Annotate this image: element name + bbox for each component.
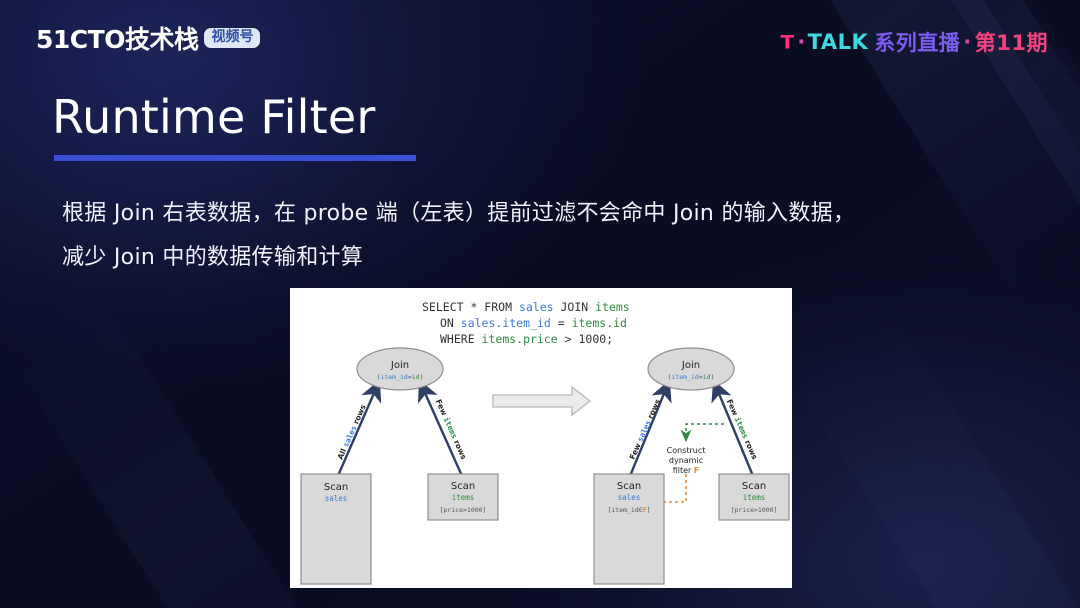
right-plan-scan-items-predicate: [price>1000] [731,506,778,514]
left-plan-edge-sales-label: All sales rows [336,403,368,461]
sql-line-2: ON sales.item_id = items.id [440,316,627,330]
talk-name: TALK [808,30,869,54]
talk-series-logo: T · TALK 系列直播 · 第11期 [781,27,1048,57]
right-plan-scan-items-title: Scan [742,481,766,492]
brand-badge: 视频号 [204,28,260,48]
sql-line-3: WHERE items.price > 1000; [440,332,613,346]
body-line-2: 减少 Join 中的数据传输和计算 [62,236,1032,280]
body-line-1: 根据 Join 右表数据，在 probe 端（左表）提前过滤不会命中 Join … [62,192,1032,236]
right-plan-join-condition: (item_id=id) [668,373,715,381]
brand-logo: 51CTO技术栈 视频号 [36,20,260,56]
dynamic-filter-note-line-3: filter F [673,466,700,475]
right-plan-scan-sales-title: Scan [617,481,641,492]
left-plan-scan-items-predicate: [price>1000] [440,506,487,514]
title-underline [54,155,416,161]
talk-episode-label: 第11期 [975,27,1048,57]
left-plan-scan-sales-title: Scan [324,482,348,493]
left-plan-join-label: Join [390,360,409,371]
diagram-canvas: SELECT * FROM sales JOIN items ON sales.… [290,288,792,588]
body-copy: 根据 Join 右表数据，在 probe 端（左表）提前过滤不会命中 Join … [62,192,1032,280]
talk-dot: · [797,30,805,54]
talk-series-label: 系列直播 [874,27,960,57]
left-plan-scan-sales-table: sales [325,494,348,503]
right-plan-scan-sales-predicate: [item_id∈F] [607,506,650,514]
sql-line-1: SELECT * FROM sales JOIN items [422,300,630,314]
right-plan-join-label: Join [681,360,700,371]
right-plan: Few sales rows Few items rows Join (item… [594,348,789,584]
dynamic-filter-note: Construct dynamic filter F [667,446,706,475]
dynamic-filter-note-line-1: Construct [667,446,706,455]
transform-arrow [493,387,590,415]
runtime-filter-diagram: SELECT * FROM sales JOIN items ON sales.… [290,288,792,588]
left-plan-scan-items-title: Scan [451,481,475,492]
left-plan-scan-items-table: items [452,493,475,502]
page-title: Runtime Filter [52,90,375,144]
dynamic-filter-note-line-2: dynamic [669,456,703,465]
sql-snippet: SELECT * FROM sales JOIN items ON sales.… [422,300,630,346]
right-plan-scan-items-table: items [743,493,766,502]
right-plan-edge-sales-label: Few sales rows [628,397,663,460]
left-plan-join-condition: (item_id=id) [377,373,424,381]
right-plan-scan-sales-table: sales [618,493,641,502]
brand-name: 51CTO技术栈 [36,20,198,56]
talk-separator: · [963,30,971,54]
left-plan-edge-sales [337,384,378,478]
talk-t-mark: T [781,31,793,54]
dynamic-filter-build-path [686,424,724,440]
left-plan: All sales rows Few items rows Join (item… [301,348,498,584]
